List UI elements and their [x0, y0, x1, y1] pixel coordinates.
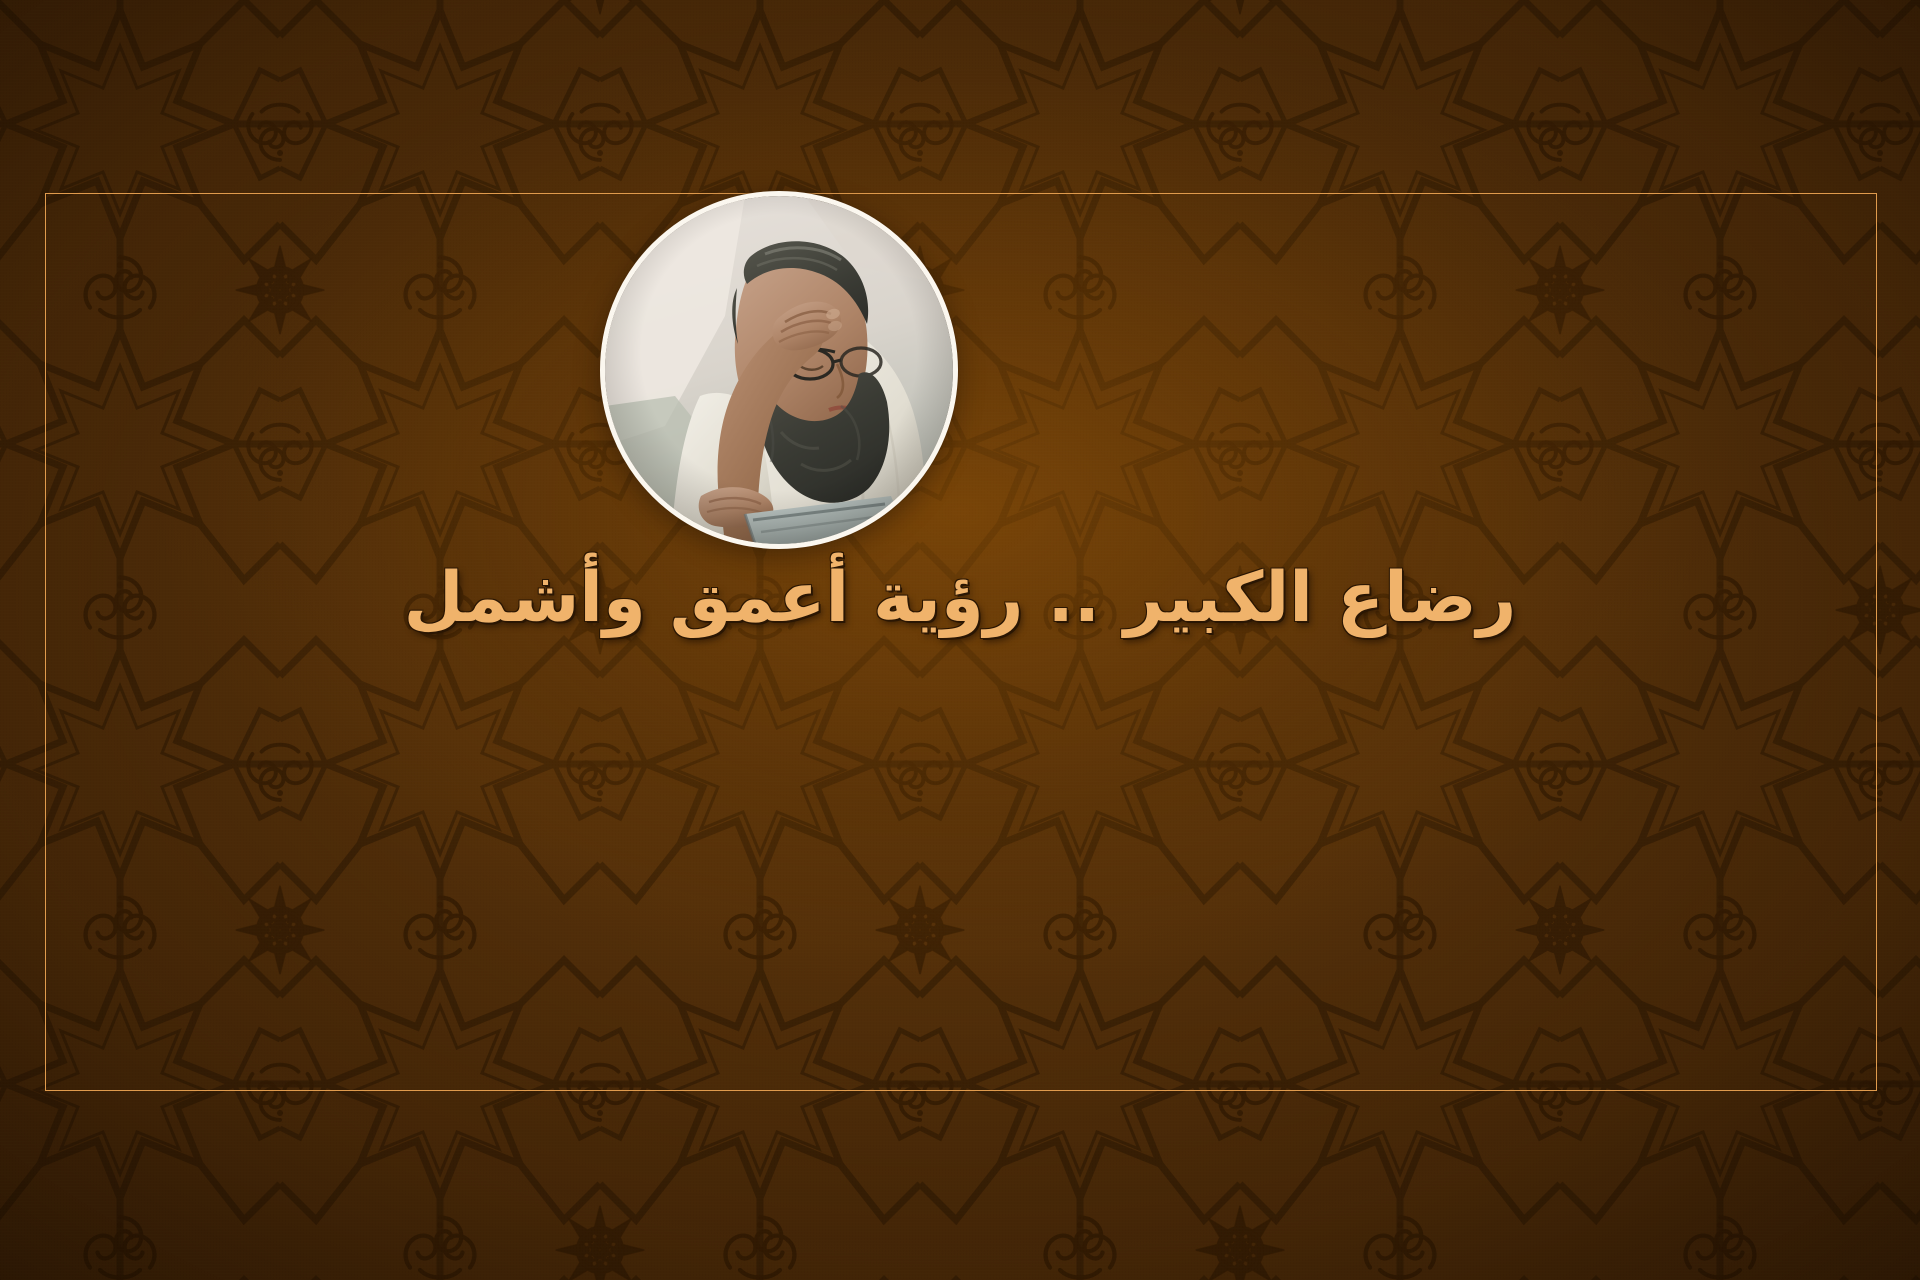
- page-title: رضاع الكبير .. رؤية أعمق وأشمل: [404, 556, 1517, 640]
- portrait-container: [600, 191, 958, 549]
- slide-canvas: رضاع الكبير .. رؤية أعمق وأشمل: [0, 0, 1920, 1280]
- slide-title-block: رضاع الكبير .. رؤية أعمق وأشمل: [0, 556, 1920, 640]
- avatar: [600, 191, 958, 549]
- portrait-photo: [605, 196, 953, 544]
